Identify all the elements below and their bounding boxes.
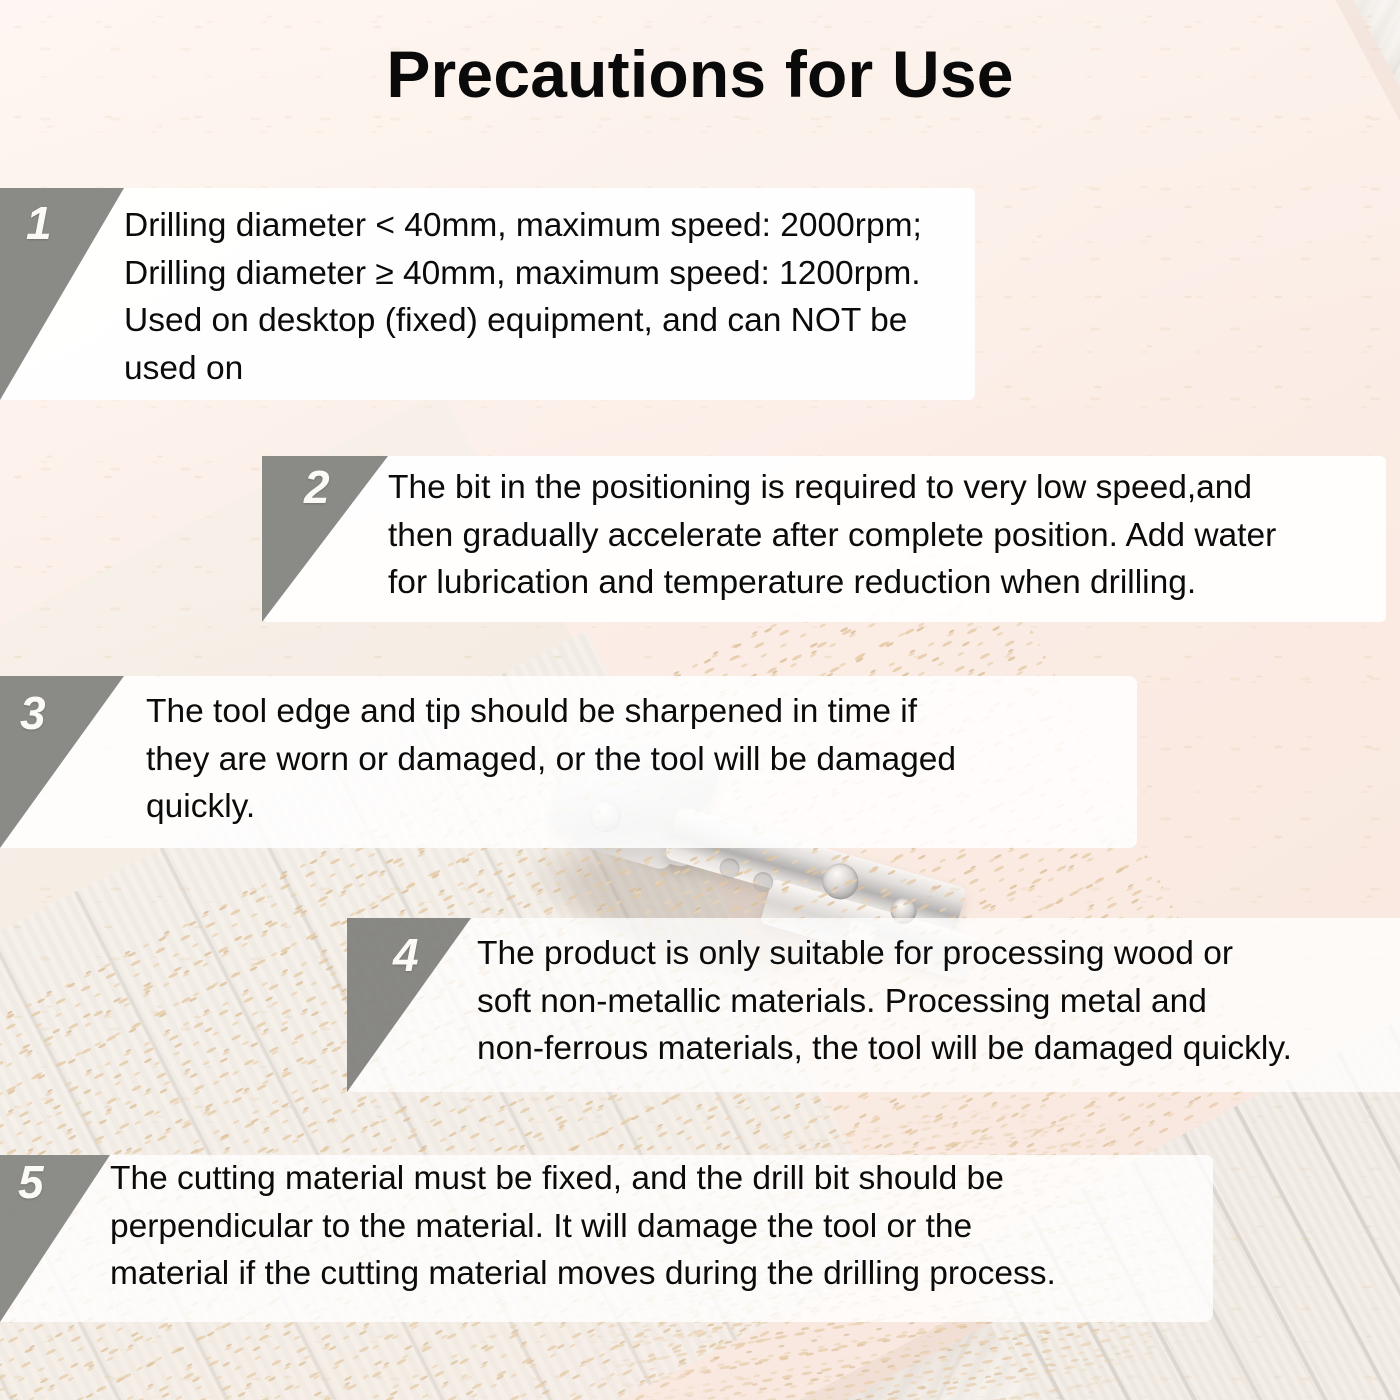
triangle-shape <box>0 188 124 400</box>
precaution-number-badge: 3 <box>0 676 124 848</box>
precaution-number-badge: 5 <box>0 1155 110 1322</box>
precaution-text: The cutting material must be fixed, and … <box>110 1155 1203 1298</box>
precaution-text: The tool edge and tip should be sharpene… <box>146 688 1127 831</box>
precaution-text: The bit in the positioning is required t… <box>388 464 1376 607</box>
precaution-number: 3 <box>20 690 46 736</box>
triangle-shape <box>0 676 124 848</box>
precaution-item-3: 3 The tool edge and tip should be sharpe… <box>0 676 1137 848</box>
precaution-item-5: 5 The cutting material must be fixed, an… <box>0 1155 1213 1322</box>
precaution-number: 1 <box>26 200 52 246</box>
precaution-number-badge: 4 <box>347 918 471 1092</box>
infographic-canvas: Precautions for Use 1 Drilling diameter … <box>0 0 1400 1400</box>
precaution-number: 2 <box>304 464 330 510</box>
triangle-shape <box>0 1155 110 1322</box>
precaution-item-4: 4 The product is only suitable for proce… <box>347 918 1400 1092</box>
precaution-item-2: 2 The bit in the positioning is required… <box>262 456 1386 622</box>
precaution-text: Drilling diameter < 40mm, maximum speed:… <box>124 202 965 400</box>
precaution-number: 5 <box>18 1159 44 1205</box>
precaution-number-badge: 1 <box>0 188 124 400</box>
precaution-item-1: 1 Drilling diameter < 40mm, maximum spee… <box>0 188 975 400</box>
precaution-text: The product is only suitable for process… <box>477 930 1390 1073</box>
page-title: Precautions for Use <box>0 38 1400 111</box>
precaution-number: 4 <box>393 932 419 978</box>
precaution-number-badge: 2 <box>262 456 388 622</box>
